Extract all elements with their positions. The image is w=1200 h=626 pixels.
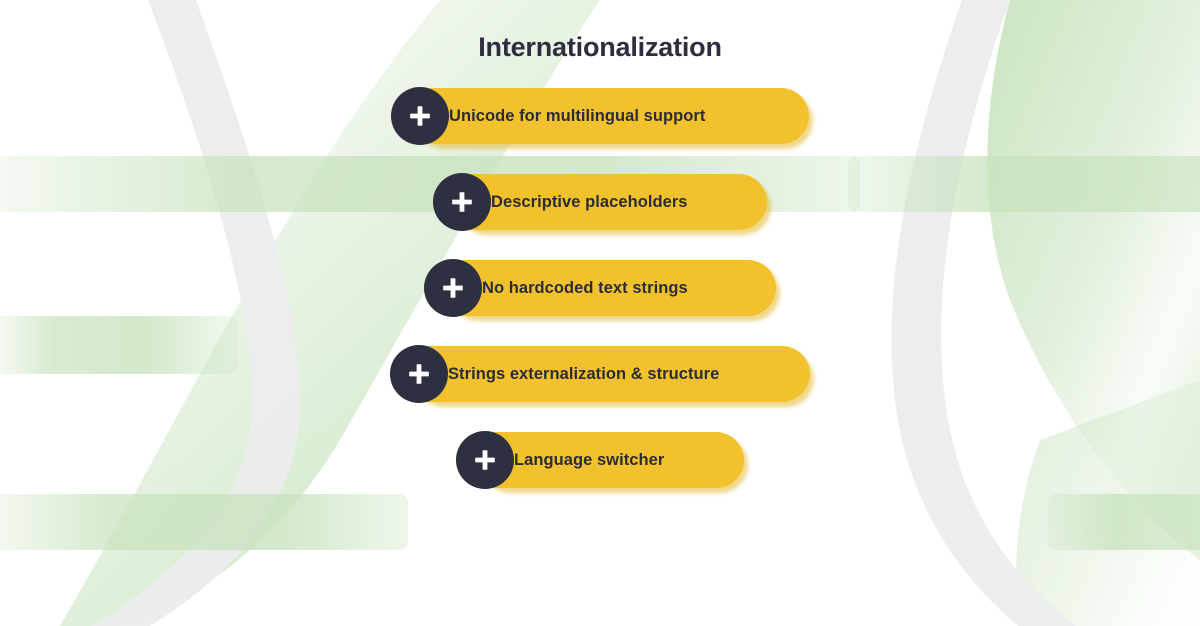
pill-bar[interactable]: Strings externalization & structure xyxy=(390,346,810,402)
pill-label: Language switcher xyxy=(514,451,664,470)
pill-bar[interactable]: Unicode for multilingual support xyxy=(391,88,809,144)
pill-label: Descriptive placeholders xyxy=(491,193,688,212)
plus-icon[interactable] xyxy=(456,431,514,489)
feature-pill-item[interactable]: Language switcher xyxy=(456,431,744,489)
page-title: Internationalization xyxy=(478,31,722,63)
feature-pill-item[interactable]: Strings externalization & structure xyxy=(390,345,810,403)
content-column: Internationalization Unicode for multili… xyxy=(0,0,1200,626)
plus-icon[interactable] xyxy=(391,87,449,145)
infographic-canvas: Internationalization Unicode for multili… xyxy=(0,0,1200,626)
feature-pill-item[interactable]: Descriptive placeholders xyxy=(433,173,767,231)
plus-icon[interactable] xyxy=(424,259,482,317)
plus-icon[interactable] xyxy=(433,173,491,231)
feature-pill-item[interactable]: No hardcoded text strings xyxy=(424,259,776,317)
pill-label: Unicode for multilingual support xyxy=(449,107,705,126)
feature-pill-list: Unicode for multilingual support Descrip… xyxy=(0,87,1200,489)
pill-label: Strings externalization & structure xyxy=(448,365,719,384)
feature-pill-item[interactable]: Unicode for multilingual support xyxy=(391,87,809,145)
pill-label: No hardcoded text strings xyxy=(482,279,688,298)
plus-icon[interactable] xyxy=(390,345,448,403)
